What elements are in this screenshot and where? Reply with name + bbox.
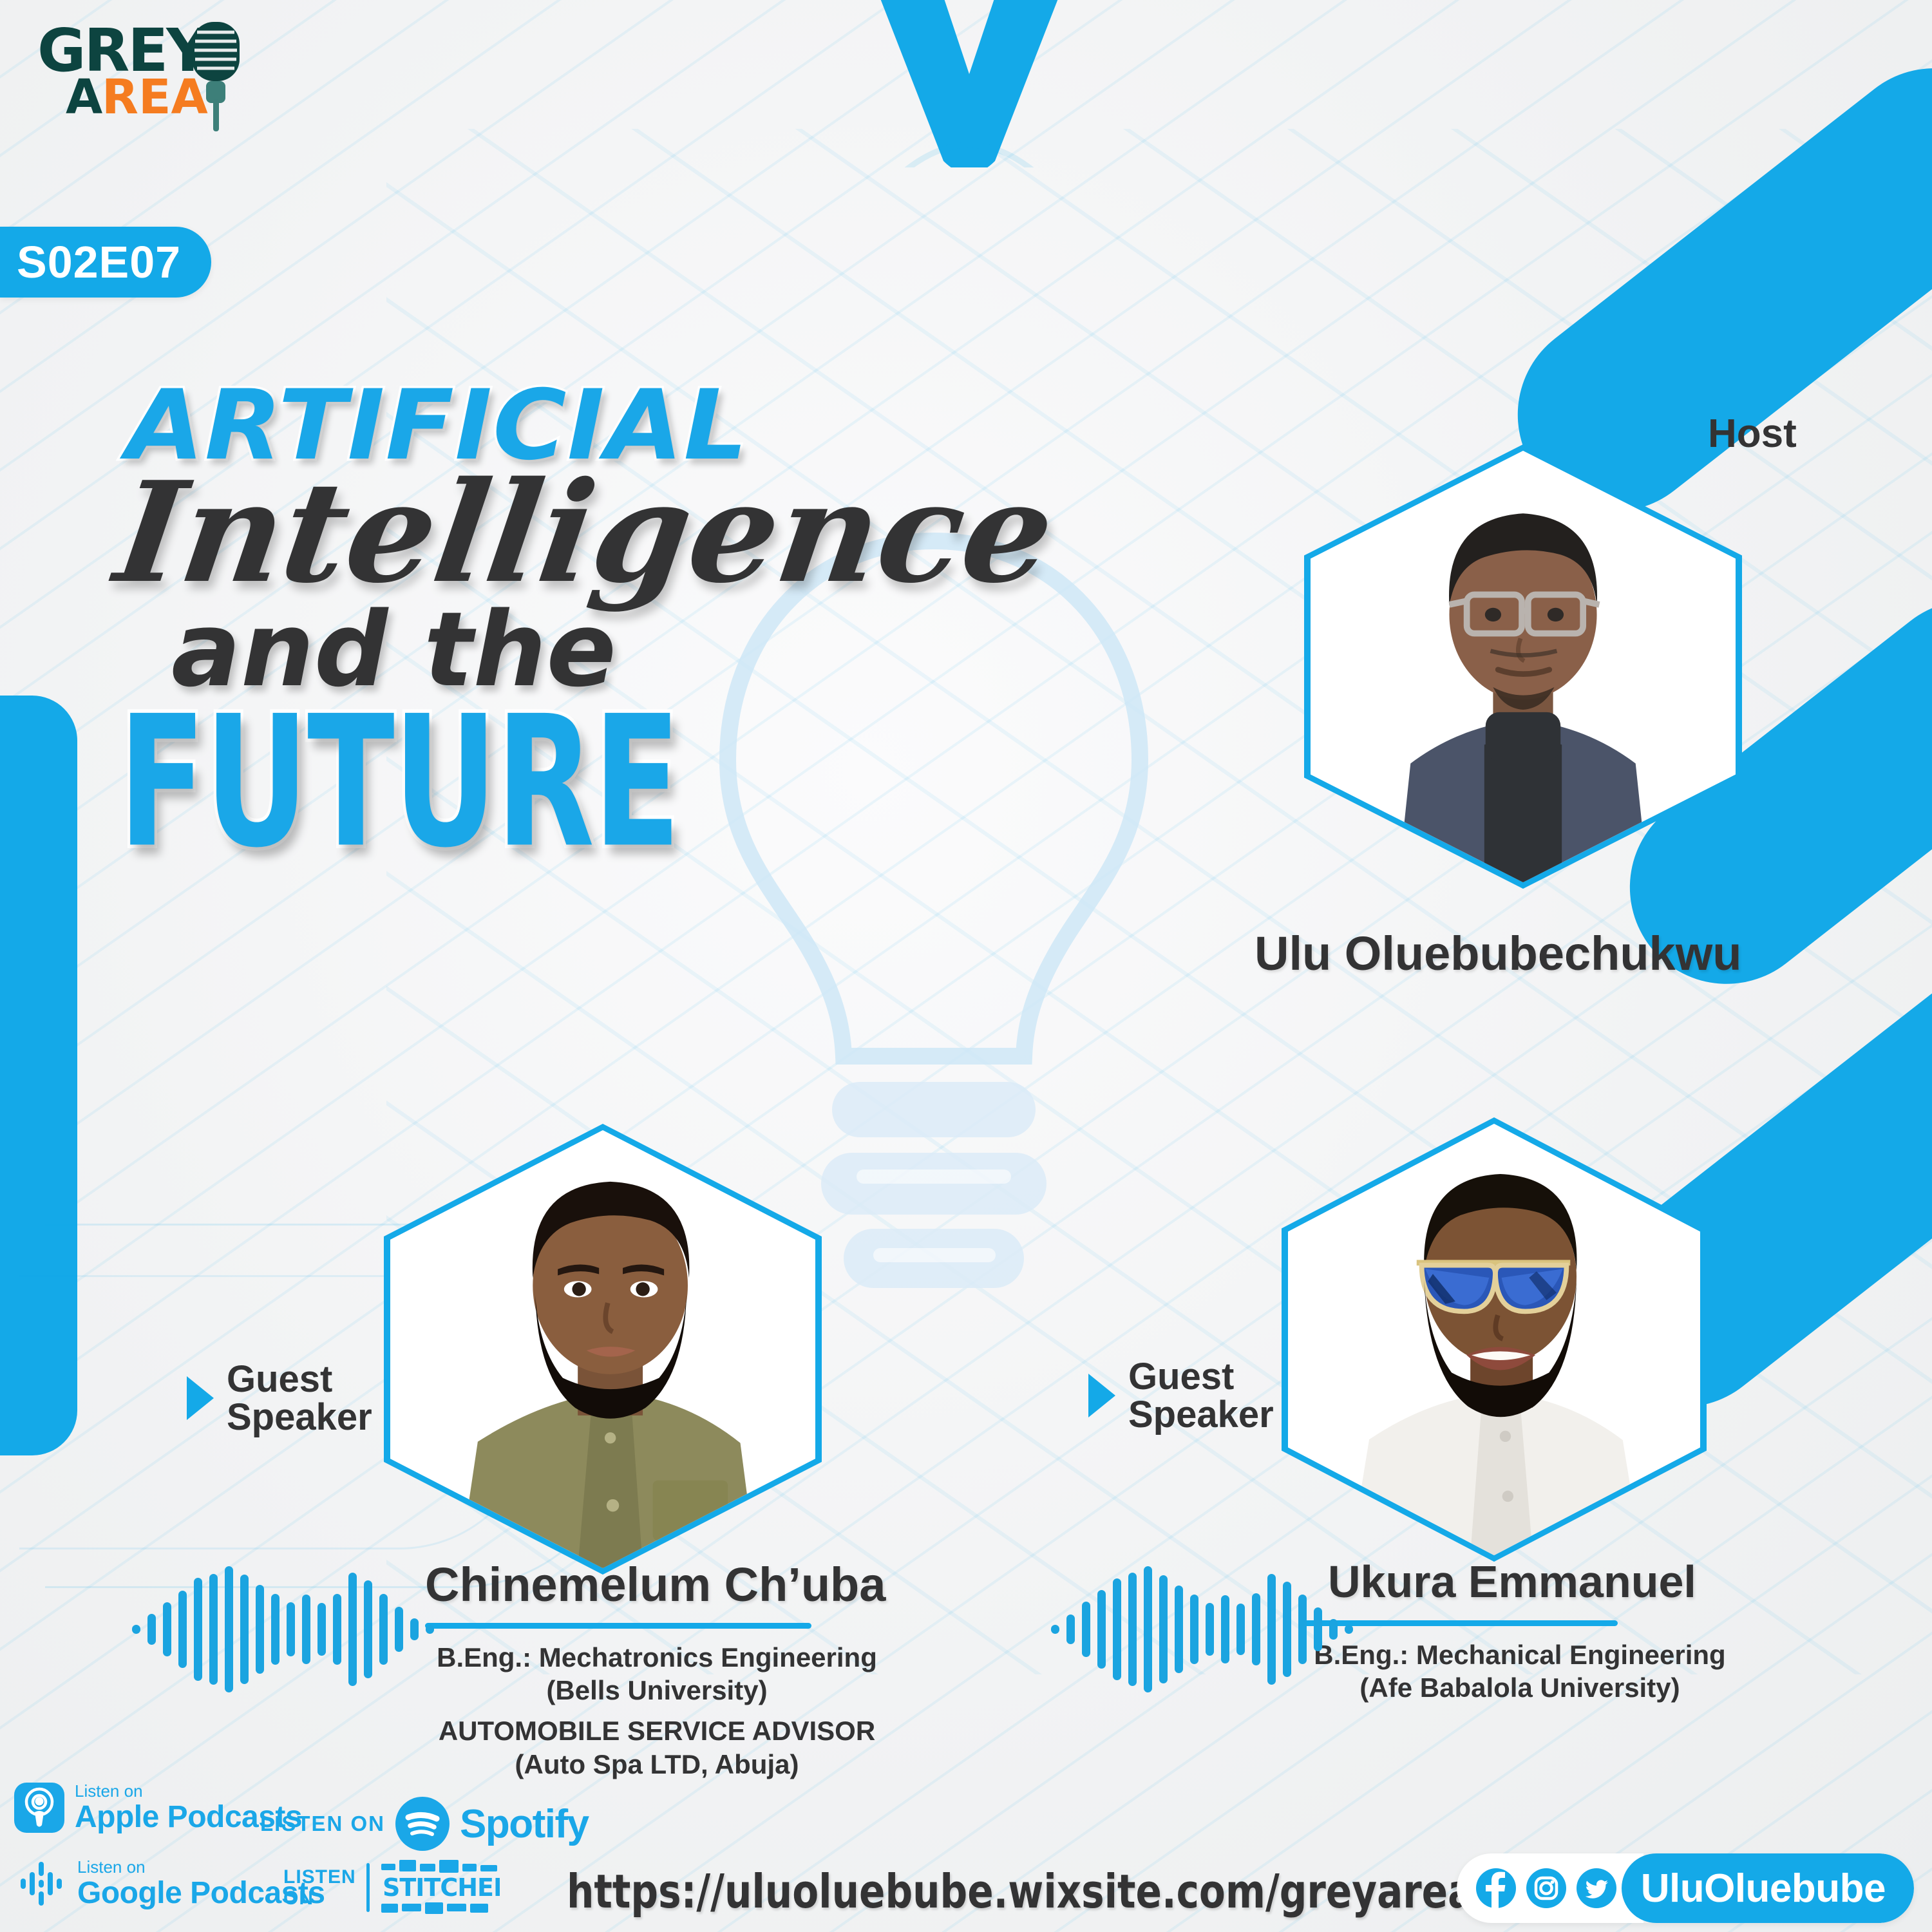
instagram-icon [1526, 1868, 1566, 1908]
apple-podcasts-badge[interactable]: Listen on Apple Podcasts [14, 1783, 302, 1833]
podcast-episode-poster: GREY A REA S02E07 ARTIFICIAL Intelligenc… [0, 0, 1932, 1932]
social-handle-text-area: UluOluebube [1622, 1853, 1914, 1923]
guest2-portrait-hexagon [1282, 1117, 1707, 1562]
hex-border [1304, 444, 1742, 889]
host-portrait-hexagon [1304, 444, 1742, 889]
stitcher-small-label: LISTEN ON [283, 1866, 356, 1909]
social-handle-pill[interactable]: UluOluebube [1457, 1853, 1914, 1923]
hex-photo-area [1288, 1124, 1700, 1555]
guest2-role-line1: Guest [1128, 1358, 1274, 1396]
apple-podcasts-icon [14, 1783, 64, 1833]
stitcher-small-line2: ON [283, 1888, 356, 1909]
host-photo [1311, 451, 1736, 882]
grey-area-logo[interactable]: GREY A REA [26, 12, 296, 134]
google-podcasts-icon [18, 1859, 67, 1908]
guest1-role-line1: Guest [227, 1360, 372, 1398]
hex-border [384, 1124, 822, 1575]
host-role-label: Host [1668, 412, 1797, 456]
spotify-icon [395, 1797, 450, 1851]
episode-title-block: ARTIFICIAL Intelligence and the FUTURE [122, 380, 1024, 836]
episode-badge: S02E07 [0, 227, 211, 298]
facebook-icon [1476, 1868, 1516, 1908]
triangle-right-icon [187, 1376, 214, 1420]
left-edge-blue-bar [0, 696, 77, 1455]
triangle-right-icon [1088, 1374, 1115, 1417]
episode-badge-label: S02E07 [17, 240, 181, 285]
guest2-waveform-icon [1051, 1565, 1353, 1694]
guest2-role-label: Guest Speaker [1088, 1358, 1274, 1434]
guest2-name: Ukura Emmanuel [1328, 1556, 1696, 1607]
guest1-role-line2: Speaker [227, 1398, 372, 1436]
guest1-name: Chinemelum Ch’uba [425, 1557, 885, 1612]
hex-photo-area [390, 1130, 815, 1568]
host-role-text: Host [1708, 413, 1797, 454]
social-handle: UluOluebube [1641, 1866, 1886, 1911]
guest1-photo [390, 1130, 815, 1568]
guest1-role-text: Guest Speaker [227, 1360, 372, 1436]
stitcher-small-line1: LISTEN [283, 1866, 356, 1888]
chevron-v-shape [831, 0, 1108, 167]
spotify-badge[interactable]: LISTEN ON Spotify [260, 1797, 589, 1851]
guest2-role-text: Guest Speaker [1128, 1358, 1274, 1434]
triangle-left-icon [1668, 412, 1695, 456]
guest1-credentials: B.Eng.: Mechatronics Engineering (Bells … [412, 1641, 902, 1781]
host-name: Ulu Oluebubechukwu [1255, 926, 1741, 981]
spotify-label: Spotify [460, 1801, 589, 1847]
website-url[interactable]: https://uluoluebube.wixsite.com/greyarea [567, 1864, 1473, 1918]
guest1-cred-line-2: (Bells University) [412, 1674, 902, 1707]
title-line-intelligence: Intelligence [111, 476, 1032, 589]
guest2-photo [1288, 1124, 1700, 1555]
stitcher-icon: STITCHER [380, 1860, 500, 1915]
guest1-cred-line-3: AUTOMOBILE SERVICE ADVISOR [412, 1714, 902, 1747]
spotify-small-label: LISTEN ON [260, 1812, 385, 1836]
guest1-portrait-hexagon [384, 1124, 822, 1575]
guest2-role-line2: Speaker [1128, 1396, 1274, 1434]
hex-border [1282, 1117, 1707, 1562]
google-podcasts-badge[interactable]: Listen on Google Podcasts [18, 1859, 325, 1909]
stitcher-badge[interactable]: LISTEN ON STITCHER [283, 1860, 500, 1915]
stitcher-label: STITCHER [383, 1873, 500, 1902]
svg-text:A: A [66, 70, 102, 125]
guest1-cred-line-1: B.Eng.: Mechatronics Engineering [412, 1641, 902, 1674]
hex-photo-area [1311, 451, 1736, 882]
stitcher-divider [366, 1863, 370, 1912]
twitter-icon [1577, 1868, 1616, 1908]
title-line-future: FUTURE [118, 700, 988, 866]
guest1-underline [425, 1623, 811, 1629]
svg-text:REA: REA [102, 70, 208, 125]
social-icons-group [1457, 1853, 1643, 1923]
guest1-waveform-icon [132, 1565, 434, 1694]
guest1-role-label: Guest Speaker [187, 1360, 372, 1436]
guest1-cred-line-4: (Auto Spa LTD, Abuja) [412, 1748, 902, 1781]
